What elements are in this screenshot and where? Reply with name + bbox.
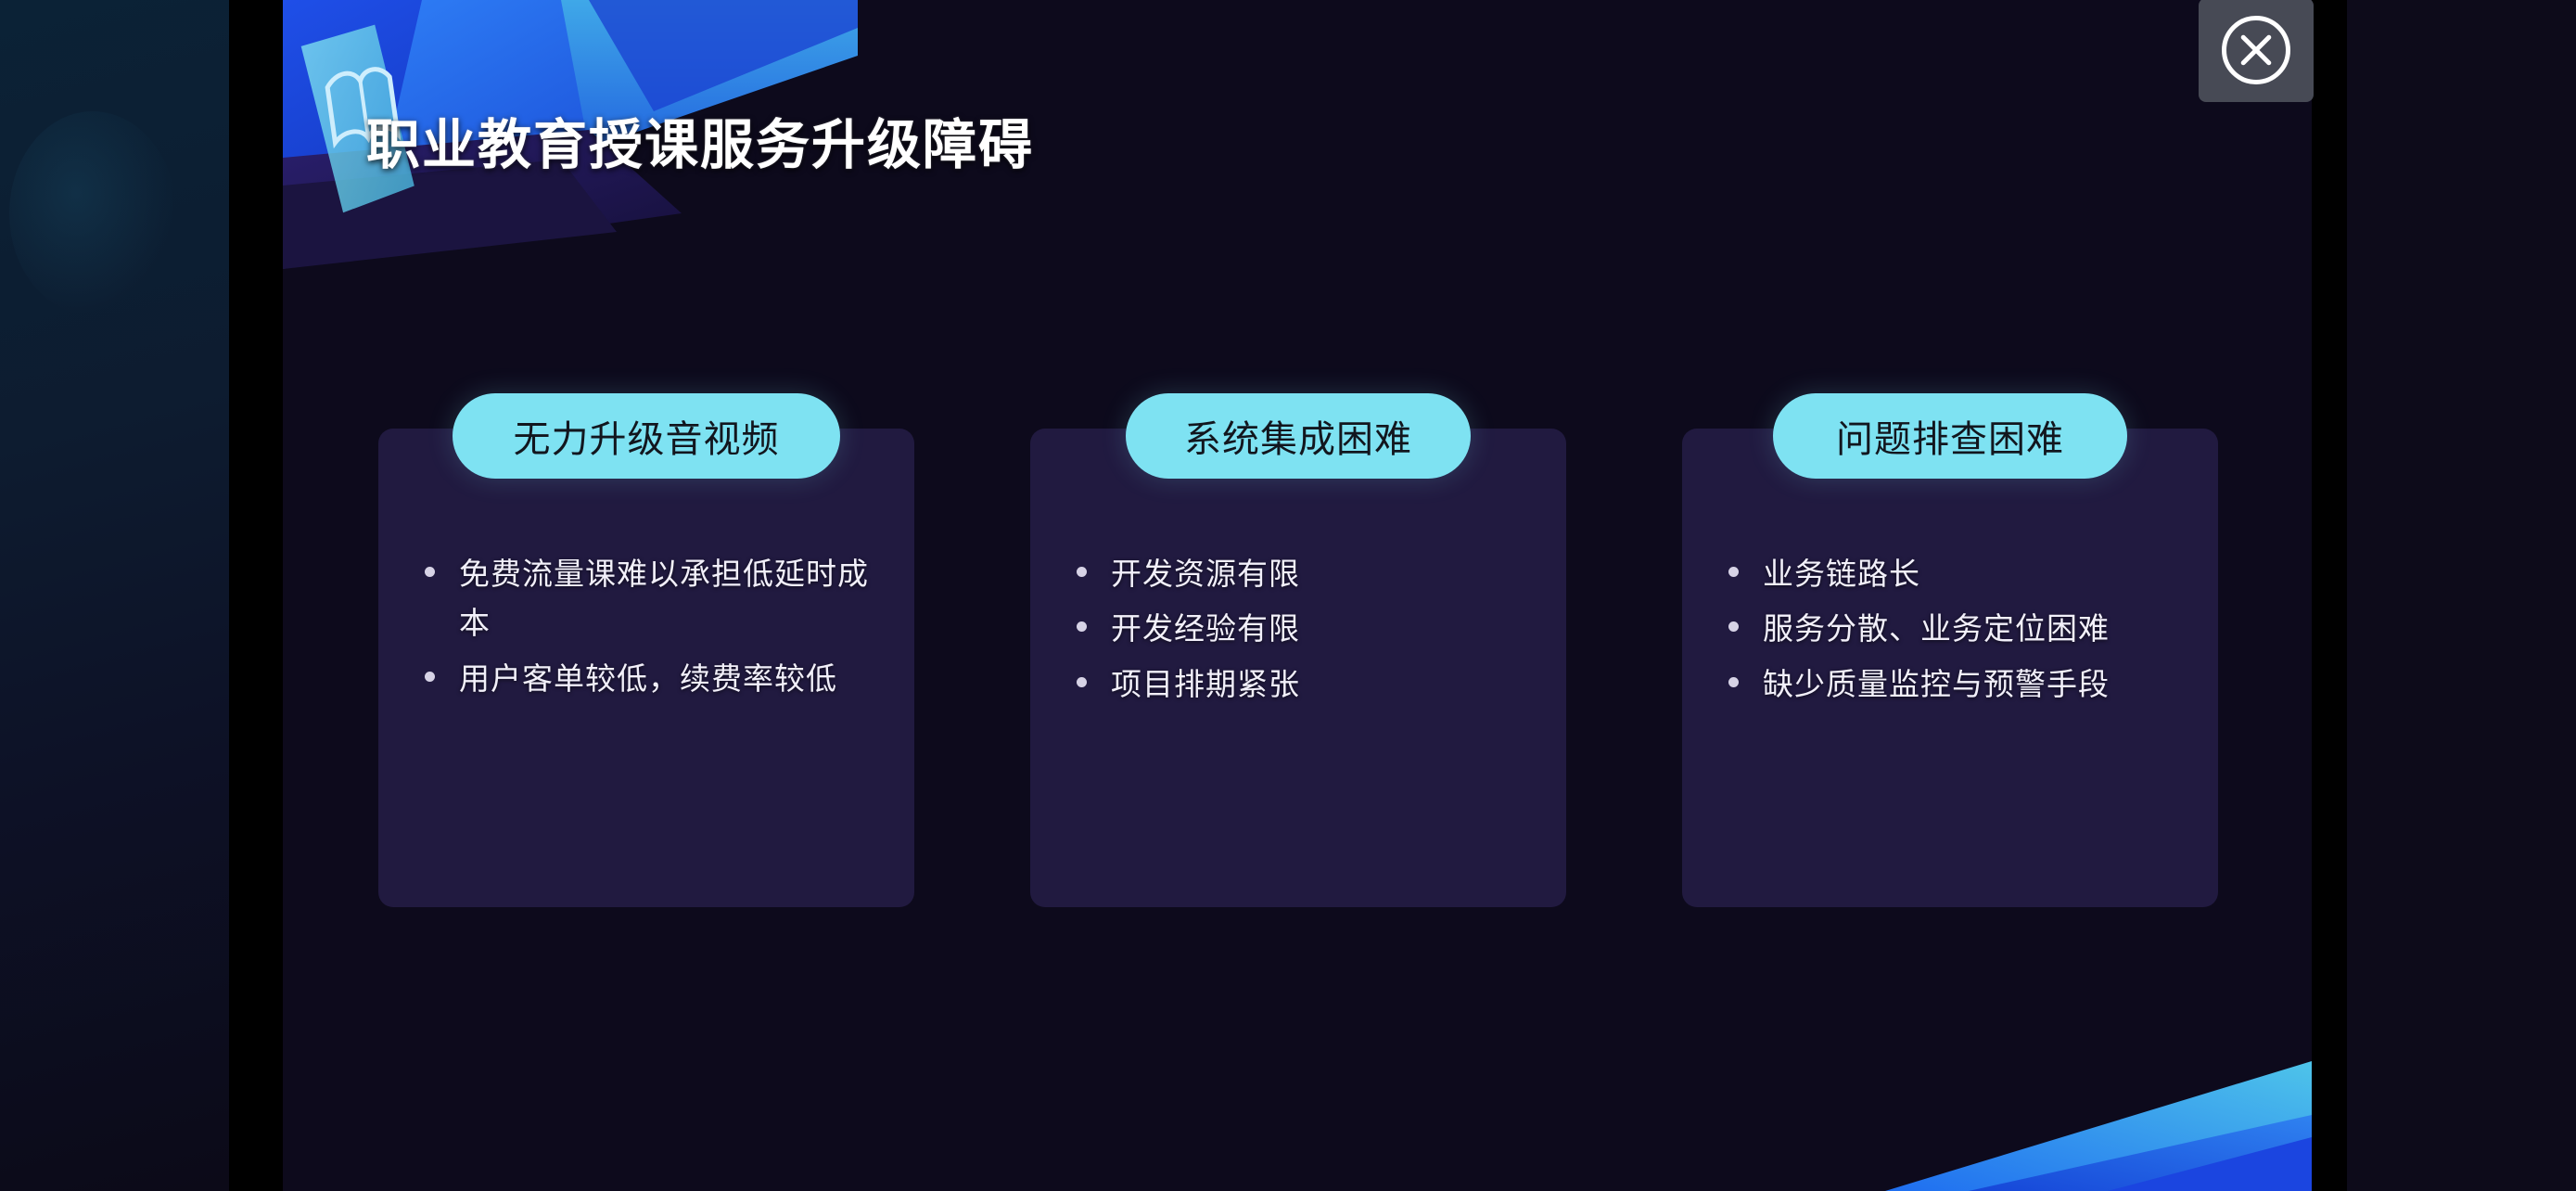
list-item: 业务链路长 xyxy=(1714,549,2198,598)
left-gradient-strip xyxy=(0,0,229,1191)
right-black-gutter xyxy=(2312,0,2347,1191)
bullet-dot-icon xyxy=(1077,567,1087,577)
bullet-list: 免费流量课难以承担低延时成本 用户客单较低，续费率较低 xyxy=(410,549,894,709)
bullet-dot-icon xyxy=(1728,677,1739,687)
bullet-dot-icon xyxy=(1077,677,1087,687)
obstacle-card-2[interactable]: 开发资源有限 开发经验有限 项目排期紧张 系统集成困难 xyxy=(1030,393,1566,907)
list-item-label: 服务分散、业务定位困难 xyxy=(1763,604,2110,653)
close-button[interactable] xyxy=(2199,0,2314,102)
card-body: 免费流量课难以承担低延时成本 用户客单较低，续费率较低 xyxy=(378,429,914,907)
list-item-label: 项目排期紧张 xyxy=(1111,660,1300,709)
list-item-label: 缺少质量监控与预警手段 xyxy=(1763,660,2110,709)
bullet-dot-icon xyxy=(1728,621,1739,632)
list-item-label: 开发资源有限 xyxy=(1111,549,1300,598)
list-item: 开发经验有限 xyxy=(1062,604,1546,653)
list-item-label: 业务链路长 xyxy=(1763,549,1920,598)
geometric-shapes-svg-2 xyxy=(1830,913,2312,1191)
card-heading-pill: 问题排查困难 xyxy=(1773,393,2127,479)
list-item-label: 开发经验有限 xyxy=(1111,604,1300,653)
obstacle-card-1[interactable]: 免费流量课难以承担低延时成本 用户客单较低，续费率较低 无力升级音视频 xyxy=(378,393,914,907)
list-item: 开发资源有限 xyxy=(1062,549,1546,598)
list-item-label: 用户客单较低，续费率较低 xyxy=(459,654,837,703)
card-body: 开发资源有限 开发经验有限 项目排期紧张 xyxy=(1030,429,1566,907)
card-heading-pill: 无力升级音视频 xyxy=(453,393,840,479)
list-item: 缺少质量监控与预警手段 xyxy=(1714,660,2198,709)
bullet-dot-icon xyxy=(425,672,435,682)
screen: 职业教育授课服务升级障碍 免费流量课难以承担低延时成本 用户客单较低，续费率较低 xyxy=(0,0,2576,1191)
list-item: 免费流量课难以承担低延时成本 xyxy=(410,549,894,648)
list-item: 服务分散、业务定位困难 xyxy=(1714,604,2198,653)
right-dark-panel xyxy=(2347,0,2576,1191)
page-title: 职业教育授课服务升级障碍 xyxy=(366,113,1034,178)
bullet-list: 业务链路长 服务分散、业务定位困难 缺少质量监控与预警手段 xyxy=(1714,549,2198,714)
list-item-label: 免费流量课难以承担低延时成本 xyxy=(459,549,886,648)
bullet-dot-icon xyxy=(425,567,435,577)
card-heading-pill: 系统集成困难 xyxy=(1126,393,1471,479)
left-black-gutter xyxy=(229,0,283,1191)
card-body: 业务链路长 服务分散、业务定位困难 缺少质量监控与预警手段 xyxy=(1682,429,2218,907)
close-icon xyxy=(2222,16,2290,84)
bottom-right-decoration xyxy=(1830,913,2312,1191)
bullet-dot-icon xyxy=(1728,567,1739,577)
list-item: 项目排期紧张 xyxy=(1062,660,1546,709)
presentation-slide: 职业教育授课服务升级障碍 免费流量课难以承担低延时成本 用户客单较低，续费率较低 xyxy=(283,0,2312,1191)
list-item: 用户客单较低，续费率较低 xyxy=(410,654,894,703)
obstacle-card-3[interactable]: 业务链路长 服务分散、业务定位困难 缺少质量监控与预警手段 问题排查困难 xyxy=(1682,393,2218,907)
bullet-dot-icon xyxy=(1077,621,1087,632)
bullet-list: 开发资源有限 开发经验有限 项目排期紧张 xyxy=(1062,549,1546,714)
cards-row: 免费流量课难以承担低延时成本 用户客单较低，续费率较低 无力升级音视频 xyxy=(283,393,2312,913)
